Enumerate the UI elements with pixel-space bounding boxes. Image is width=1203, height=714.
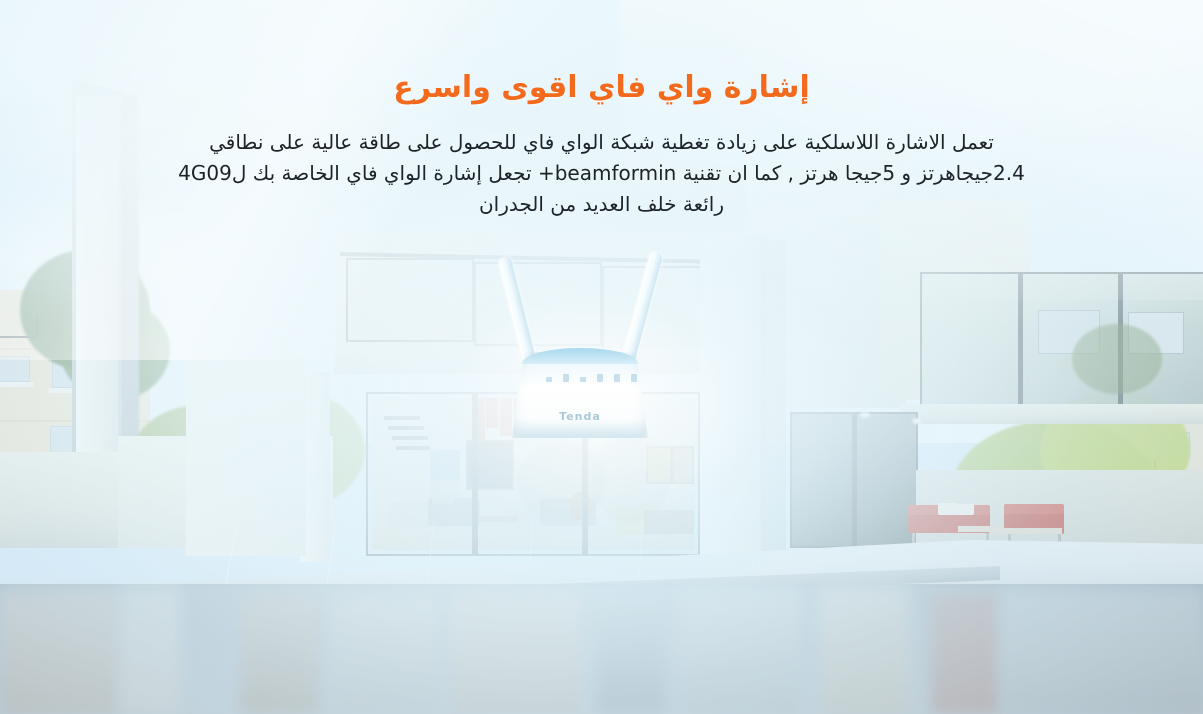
description-block: تعمل الاشارة اللاسلكية على زيادة تغطية ش… [0, 127, 1203, 220]
pool-reflection [240, 596, 320, 714]
column-center-shadow [760, 240, 786, 564]
pool-reflection [680, 590, 800, 714]
router-brand-logo: Tenda [512, 410, 648, 423]
description-line-1: تعمل الاشارة اللاسلكية على زيادة تغطية ش… [0, 127, 1203, 158]
led-indicator [597, 374, 603, 382]
router-top-edge [522, 348, 639, 364]
pool-reflection [1000, 590, 1203, 714]
pool-reflection [0, 590, 120, 714]
cushion [956, 504, 974, 515]
led-indicator [563, 374, 569, 382]
pool-reflection [450, 592, 580, 714]
pool-reflection [596, 592, 666, 714]
router-device[interactable]: Tenda [500, 248, 660, 438]
description-line-2: 2.4جيجاهرتز و 5جيجا هرتز , كما ان تقنية … [0, 158, 1203, 189]
soffit-light [860, 412, 870, 418]
description-line-3: رائعة خلف العديد من الجدران [0, 189, 1203, 220]
pool-reflection [820, 588, 910, 714]
router-shell: Tenda [512, 352, 648, 438]
inner-wall [186, 356, 306, 556]
soffit-light [912, 418, 922, 424]
column-center [700, 236, 766, 566]
router-led-row [546, 374, 637, 382]
led-indicator [631, 374, 637, 382]
upper-right-sill [900, 404, 1203, 424]
led-indicator [546, 377, 552, 382]
pool-reflection [930, 592, 1000, 714]
pool-reflection [330, 594, 440, 714]
upper-right-window [920, 272, 1203, 406]
led-indicator [580, 377, 586, 382]
balcony-rail-glass [346, 258, 474, 342]
promo-banner: Tenda إشارة واي فاي اقوى واسرع تعمل الاش… [0, 0, 1203, 714]
cushion [938, 503, 958, 515]
pool-reflection [120, 588, 180, 714]
led-indicator [614, 374, 620, 382]
page-title: إشارة واي فاي اقوى واسرع [0, 70, 1203, 105]
right-glazing [790, 412, 918, 548]
